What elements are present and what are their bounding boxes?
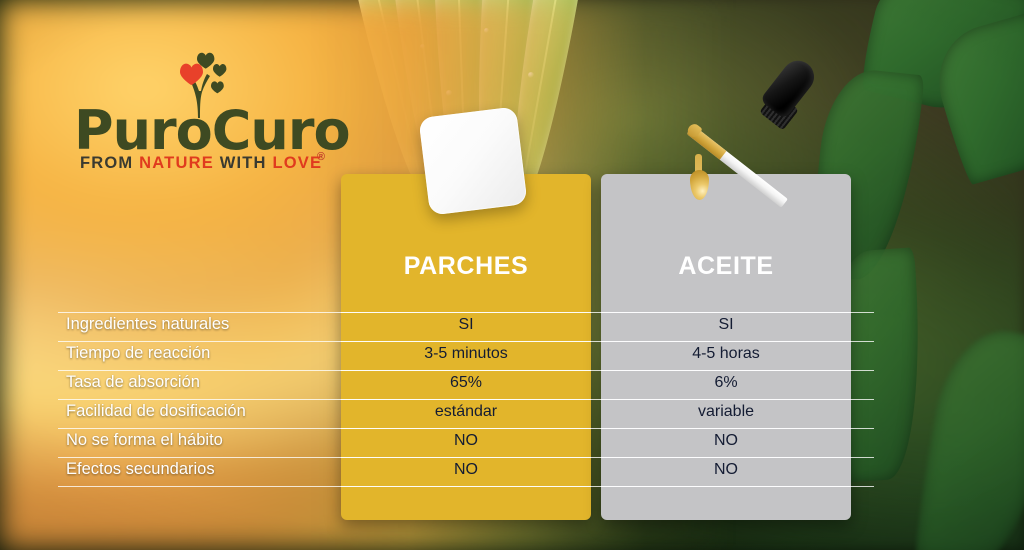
cell-parches: NO — [341, 461, 591, 479]
row-divider-column — [341, 312, 591, 313]
row-divider-column — [601, 370, 851, 371]
table-row: Facilidad de dosificaciónestándarvariabl… — [58, 399, 1024, 428]
cell-aceite: 6% — [601, 374, 851, 392]
row-label: Tasa de absorción — [66, 373, 200, 392]
row-label: Efectos secundarios — [66, 460, 215, 479]
row-divider-column — [601, 428, 851, 429]
row-divider-column — [341, 341, 591, 342]
table-row-end — [58, 486, 1024, 515]
row-label: Facilidad de dosificación — [66, 402, 246, 421]
row-label: No se forma el hábito — [66, 431, 223, 450]
row-divider-column — [601, 457, 851, 458]
comparison-rows: Ingredientes naturalesSISITiempo de reac… — [0, 0, 1024, 550]
cell-aceite: SI — [601, 316, 851, 334]
table-row: Efectos secundariosNONO — [58, 457, 1024, 486]
comparison-infographic: PuroCuro ® FROM NATURE WITH LOVE PARCHES… — [0, 0, 1024, 550]
cell-parches: NO — [341, 432, 591, 450]
row-divider-column — [601, 341, 851, 342]
row-divider-column — [341, 399, 591, 400]
cell-aceite: 4-5 horas — [601, 345, 851, 363]
cell-parches: 65% — [341, 374, 591, 392]
row-divider-column — [341, 457, 591, 458]
comparison-table: PARCHES ACEITE Ingredientes naturalesSIS… — [0, 0, 1024, 550]
table-row: Tasa de absorción65%6% — [58, 370, 1024, 399]
row-divider-column — [341, 428, 591, 429]
table-row: Ingredientes naturalesSISI — [58, 312, 1024, 341]
cell-parches: SI — [341, 316, 591, 334]
table-row: No se forma el hábitoNONO — [58, 428, 1024, 457]
row-divider-column — [601, 312, 851, 313]
table-row: Tiempo de reacción3-5 minutos4-5 horas — [58, 341, 1024, 370]
cell-aceite: variable — [601, 403, 851, 421]
row-divider-column — [601, 399, 851, 400]
row-label: Tiempo de reacción — [66, 344, 210, 363]
row-divider-column — [341, 370, 591, 371]
cell-aceite: NO — [601, 432, 851, 450]
row-divider-column — [341, 486, 591, 487]
cell-aceite: NO — [601, 461, 851, 479]
row-divider-column — [601, 486, 851, 487]
cell-parches: estándar — [341, 403, 591, 421]
row-label: Ingredientes naturales — [66, 315, 229, 334]
cell-parches: 3-5 minutos — [341, 345, 591, 363]
